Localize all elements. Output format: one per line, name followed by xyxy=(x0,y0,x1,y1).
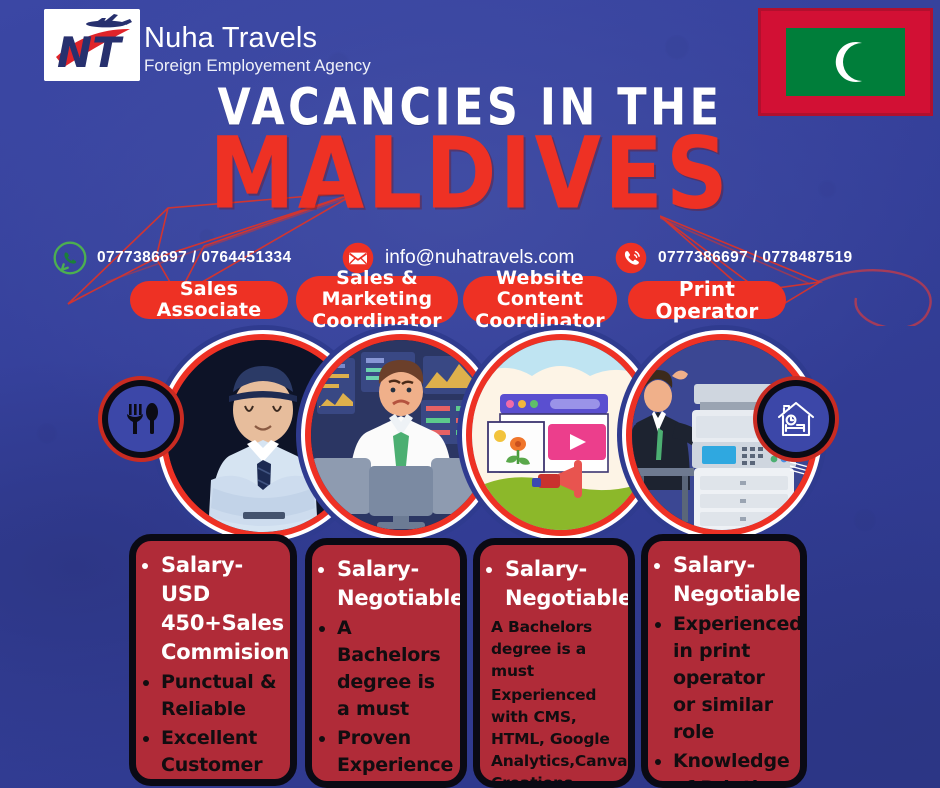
brand-name: Nuha Travels xyxy=(144,22,317,55)
job-pill-website-content-coordinator[interactable]: Website Content Coordinator xyxy=(463,276,617,324)
card-list: Salary- USD 450+Sales Commision+OT Punct… xyxy=(144,551,280,786)
fork-and-spoon-icon xyxy=(118,396,164,442)
salary-item: Salary- Negotiable xyxy=(673,551,790,609)
badge-accommodation xyxy=(753,376,839,462)
job-pill-print-operator[interactable]: Print Operator xyxy=(628,281,786,319)
brand-tagline: Foreign Employement Agency xyxy=(144,56,371,76)
job-pill-label: Website Content Coordinator xyxy=(475,268,605,332)
card-list: Salary- Negotiable Experienced in print … xyxy=(656,551,790,788)
card-plain-list: A Bachelors degree is a must Experienced… xyxy=(488,616,618,788)
job-pill-label: Sales Associate xyxy=(143,279,275,322)
job-pill-sales-marketing-coordinator[interactable]: Sales & Marketing Coordinator xyxy=(296,276,458,324)
contact-email-text: info@nuhatravels.com xyxy=(385,247,574,269)
requirement-item: A Bachelors degree is a must xyxy=(337,615,450,723)
card-list: Salary- Negotiable A Bachelors degree is… xyxy=(320,555,450,788)
vacancy-poster: NT Nuha Travels Foreign Employement Agen… xyxy=(0,0,940,788)
requirement-item: Punctual & Reliable xyxy=(161,669,280,723)
job-card-sales-marketing: Salary- Negotiable A Bachelors degree is… xyxy=(305,538,467,788)
salary-item: Salary- Negotiable xyxy=(337,555,450,613)
job-pill-sales-associate[interactable]: Sales Associate xyxy=(130,281,288,319)
contact-phone[interactable]: 0777386697 / 0778487519 xyxy=(613,237,853,279)
contact-whatsapp-text: 0777386697 / 0764451334 xyxy=(97,249,292,267)
svg-text:NT: NT xyxy=(57,28,124,77)
company-logo: NT xyxy=(44,9,140,81)
requirement-item: Knowledge of Printing Process and the Ma… xyxy=(673,748,790,788)
contact-whatsapp[interactable]: 0777386697 / 0764451334 xyxy=(52,237,292,279)
requirement-item: A Bachelors degree is a must xyxy=(491,616,618,682)
requirement-item: Experienced with CMS, HTML, Google Analy… xyxy=(491,684,618,788)
card-list: Salary- Negotiable xyxy=(488,555,618,613)
house-bed-clock-icon xyxy=(772,395,820,443)
requirement-item: Proven Experience in sales and marketing xyxy=(337,725,450,788)
requirement-item: Excellent Customer Service xyxy=(161,725,280,786)
job-card-website-content: Salary- Negotiable A Bachelors degree is… xyxy=(473,538,635,788)
salary-item: Salary- Negotiable xyxy=(505,555,618,613)
requirement-item: Experienced in print operator or similar… xyxy=(673,611,790,746)
job-pill-label: Print Operator xyxy=(641,278,773,323)
salary-item: Salary- USD 450+Sales Commision+OT xyxy=(161,551,280,667)
job-card-print-operator: Salary- Negotiable Experienced in print … xyxy=(641,534,807,788)
phone-icon xyxy=(613,240,649,276)
badge-food-service xyxy=(98,376,184,462)
contact-row: 0777386697 / 0764451334 info@nuhatravels… xyxy=(0,237,940,279)
title-line-2: MALDIVES xyxy=(0,117,940,232)
whatsapp-icon xyxy=(52,240,88,276)
contact-phone-text: 0777386697 / 0778487519 xyxy=(658,249,853,267)
job-card-sales-associate: Salary- USD 450+Sales Commision+OT Punct… xyxy=(129,534,297,786)
job-pill-label: Sales & Marketing Coordinator xyxy=(309,268,445,332)
